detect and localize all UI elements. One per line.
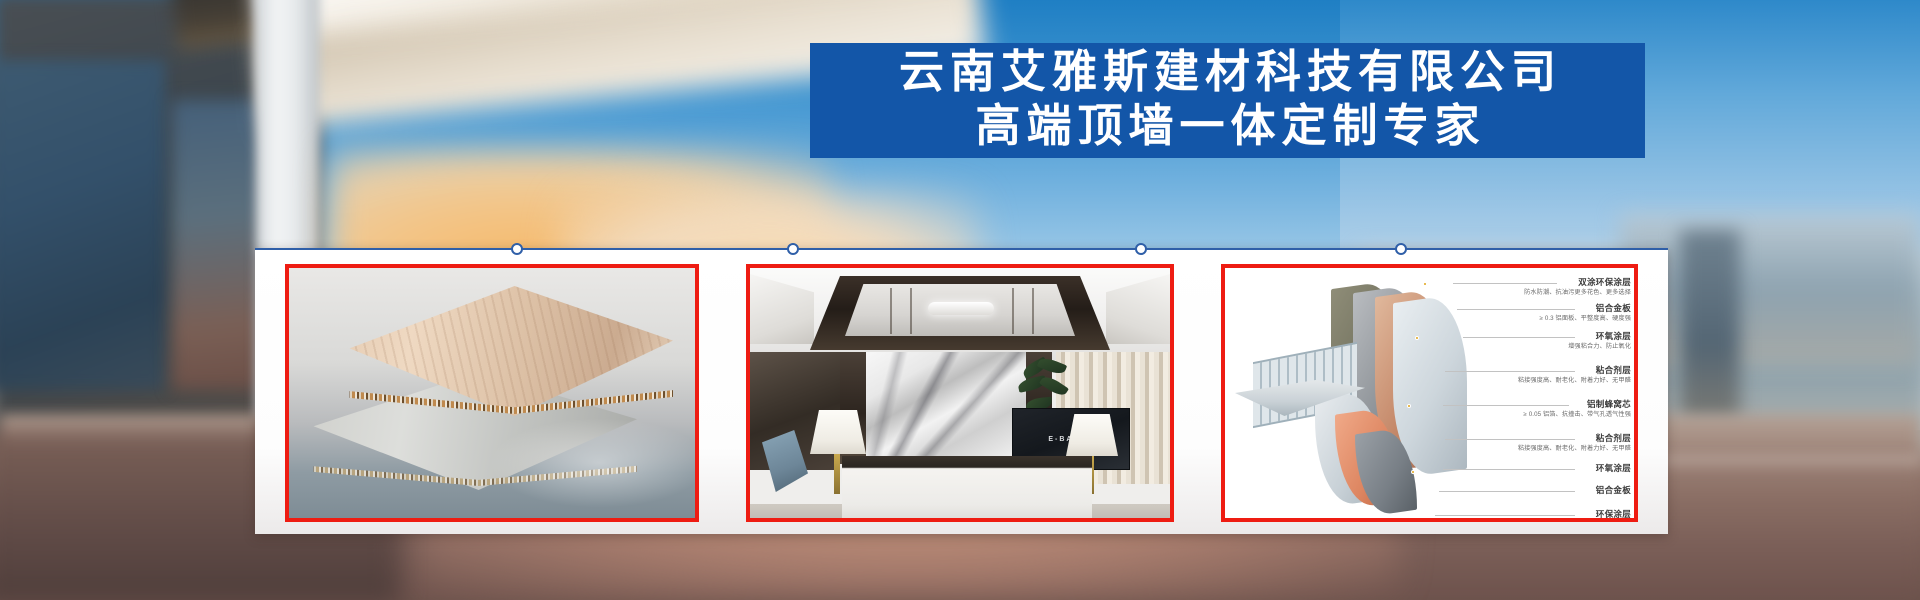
leader-line [1453,283,1557,284]
table-lamp-right [1066,414,1118,456]
layer-subtitle: 粘接强度高、耐老化、附着力好、无甲醛 [1437,445,1631,453]
exploded-sheet-stack [1235,274,1445,514]
selection-handle-right[interactable] [1395,243,1407,255]
layer-subtitle: ≥ 0.3 铝面板、平整度高、硬度强 [1437,315,1631,323]
leader-line [1445,371,1575,372]
banner-line-2: 高端顶墙一体定制专家 [969,99,1485,152]
ceiling-slat [1032,288,1034,334]
lamp-stem-left [834,454,840,494]
company-title-banner: 云南艾雅斯建材科技有限公司 高端顶墙一体定制专家 [810,43,1645,158]
layer-subtitle: 增强粘合力、防止氧化 [1437,343,1631,351]
leader-line [1463,337,1575,338]
layer-label-row: 铝制蜂窝芯 ≥ 0.05 铝箔、抗撞击、带气孔透气性强 [1437,400,1631,419]
layer-label-row: 双涂环保涂层 防水防潮、抗油污更多花色、更多选择 [1437,278,1631,297]
leader-line [1443,469,1575,470]
ceiling-slat [890,288,892,334]
plant-leaf [1039,373,1069,399]
glass-facade-left [0,60,165,390]
panel-interior-showroom[interactable]: E-BAYNA [746,264,1174,522]
table-lamp-left [810,410,866,454]
panel-row: E-BAYNA [285,264,1638,522]
layer-subtitle: 防水防潮、抗油污更多花色、更多选择 [1437,289,1631,297]
banner-line-1: 云南艾雅斯建材科技有限公司 [893,45,1562,98]
layer-label-row: 环保涂层 [1437,510,1631,521]
building-right-column [1680,230,1740,420]
marble-veining [846,352,1026,462]
ceiling-slat [1012,288,1014,334]
marble-feature-wall [846,352,1026,462]
reception-counter [842,456,1092,522]
leader-dot [1423,282,1427,286]
layer-label-list: 双涂环保涂层 防水防潮、抗油污更多花色、更多选择 铝合金板 ≥ 0.3 铝面板、… [1437,274,1633,518]
panel-layer-structure[interactable]: 双涂环保涂层 防水防潮、抗油污更多花色、更多选择 铝合金板 ≥ 0.3 铝面板、… [1221,264,1638,522]
panel-honeycomb-boards[interactable] [285,264,699,522]
layer-subtitle: 粘接强度高、耐老化、附着力好、无甲醛 [1437,377,1631,385]
leader-line [1435,515,1575,516]
ceiling-slat [910,288,912,334]
leader-dot [1415,336,1419,340]
layer-label-row: 环氧涂层 增强粘合力、防止氧化 [1437,332,1631,351]
surface-sheen [489,418,699,508]
leader-dot [1411,470,1415,474]
leader-line [1439,491,1575,492]
leader-line [1457,309,1575,310]
strip-top-rule [255,248,1668,250]
product-showcase-strip: E-BAYNA [255,248,1668,534]
selection-handle-mid-2[interactable] [1135,243,1147,255]
layer-label-row: 粘合剂层 粘接强度高、耐老化、附着力好、无甲醛 [1437,434,1631,453]
glass-facade-mid [172,100,262,390]
leader-dot [1407,404,1411,408]
layer-label-row: 环氧涂层 [1437,464,1631,475]
layer-label-row: 粘合剂层 粘接强度高、耐老化、附着力好、无甲醛 [1437,366,1631,385]
layer-label-row: 铝合金板 ≥ 0.3 铝面板、平整度高、硬度强 [1437,304,1631,323]
layer-subtitle: ≥ 0.05 铝箔、抗撞击、带气孔透气性强 [1437,411,1631,419]
leader-line [1443,405,1569,406]
selection-handle-mid-1[interactable] [787,243,799,255]
leader-line [1445,439,1575,440]
selection-handle-left[interactable] [511,243,523,255]
ceiling-light-fixture [928,302,994,315]
layer-label-row: 铝合金板 [1437,486,1631,497]
